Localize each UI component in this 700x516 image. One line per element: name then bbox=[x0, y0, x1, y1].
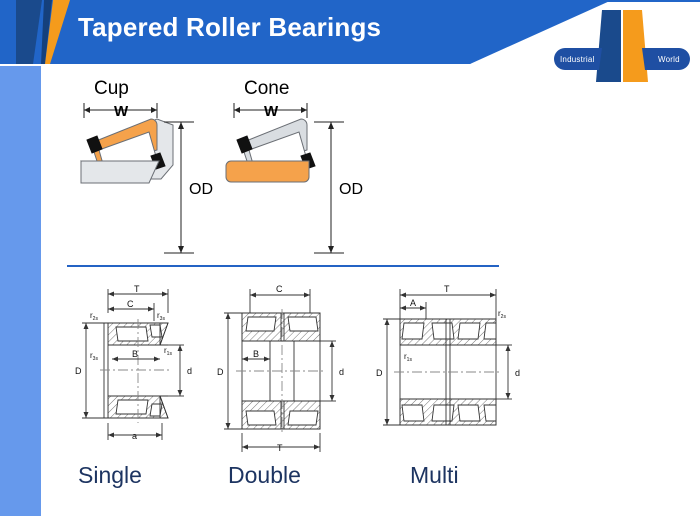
single-row-bearing-drawing: T C B D d a r2s r3s r3s r1s bbox=[68, 283, 208, 458]
single-radius-r3s-left: r3s bbox=[90, 351, 98, 362]
cone-bearing-drawing: W OD bbox=[219, 98, 379, 268]
cone-dimension-w: W bbox=[264, 103, 279, 120]
top-figures-area: Cup Cone bbox=[41, 66, 700, 271]
cone-figure-title: Cone bbox=[244, 78, 289, 100]
slide-canvas: Tapered Roller Bearings Industrial World… bbox=[0, 0, 700, 516]
bottom-figures-area: T C B D d a r2s r3s r3s r1s bbox=[0, 278, 700, 458]
single-dimension-b: B bbox=[132, 349, 138, 359]
double-dimension-b: B bbox=[253, 349, 259, 359]
double-row-bearing-drawing: C B D d T bbox=[208, 283, 358, 458]
logo-word-industrial: Industrial bbox=[560, 55, 594, 64]
double-dimension-t: T bbox=[277, 443, 283, 453]
cup-dimension-w: W bbox=[114, 103, 129, 120]
single-dimension-c: C bbox=[127, 299, 134, 309]
single-dimension-t: T bbox=[134, 284, 140, 294]
multi-radius-r1s: r1s bbox=[404, 352, 412, 363]
multi-figure-label: Multi bbox=[410, 462, 459, 489]
single-radius-r3s: r3s bbox=[157, 311, 165, 322]
page-title: Tapered Roller Bearings bbox=[78, 12, 381, 43]
cup-dimension-od: OD bbox=[189, 181, 213, 198]
logo-word-world: World bbox=[658, 55, 680, 64]
single-dimension-d-bore: d bbox=[187, 366, 192, 376]
single-figure-label: Single bbox=[78, 462, 142, 489]
single-radius-r2s: r2s bbox=[90, 311, 98, 322]
cone-dimension-od: OD bbox=[339, 181, 363, 198]
multi-dimension-t: T bbox=[444, 284, 450, 294]
double-dimension-d-bore: d bbox=[339, 367, 344, 377]
cup-figure-title: Cup bbox=[94, 78, 129, 100]
section-divider bbox=[67, 265, 499, 267]
double-dimension-c: C bbox=[276, 284, 283, 294]
cup-bearing-drawing: W OD bbox=[69, 98, 229, 268]
multi-dimension-d-outer: D bbox=[376, 368, 383, 378]
multi-row-bearing-drawing: T A D d r2s r1s bbox=[370, 283, 530, 458]
double-dimension-d-outer: D bbox=[217, 367, 224, 377]
single-dimension-a: a bbox=[132, 431, 137, 441]
multi-dimension-d-bore: d bbox=[515, 368, 520, 378]
multi-dimension-a: A bbox=[410, 298, 416, 308]
multi-radius-r2s: r2s bbox=[498, 309, 506, 320]
double-figure-label: Double bbox=[228, 462, 301, 489]
single-radius-r1s: r1s bbox=[164, 346, 172, 357]
single-dimension-d-outer: D bbox=[75, 366, 82, 376]
